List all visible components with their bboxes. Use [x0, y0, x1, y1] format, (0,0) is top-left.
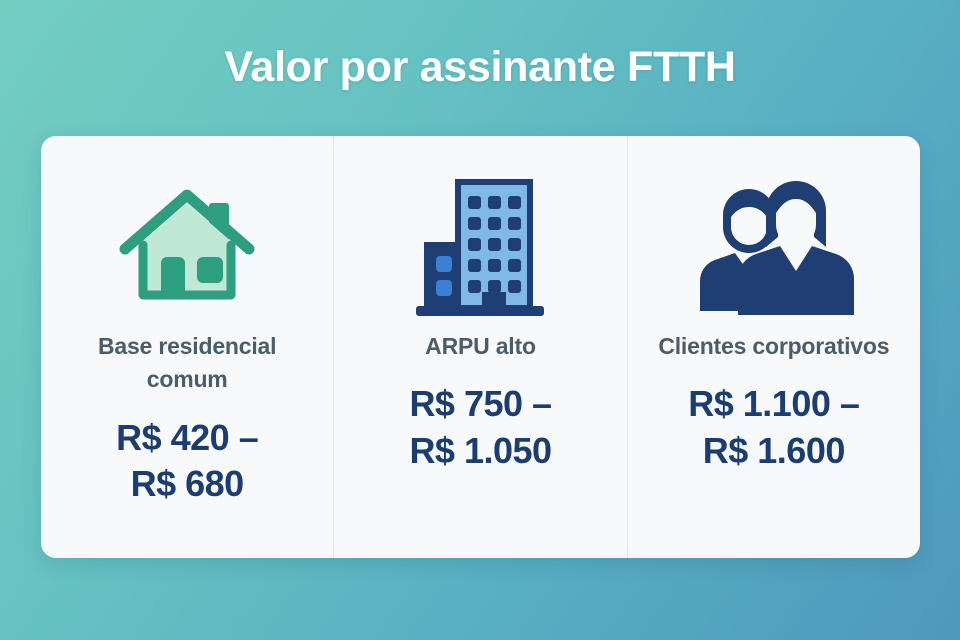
- segment-label: Clientes corporativos: [658, 330, 889, 363]
- segment-value: R$ 750 – R$ 1.050: [409, 381, 551, 475]
- value-card-panel: Base residencial comum R$ 420 – R$ 680: [41, 136, 920, 558]
- segment-label: ARPU alto: [425, 330, 536, 363]
- segment-arpu-alto: ARPU alto R$ 750 – R$ 1.050: [333, 136, 626, 558]
- infographic-root: Valor por assinante FTTH: [0, 0, 960, 640]
- segment-value: R$ 420 – R$ 680: [116, 415, 258, 509]
- segment-value: R$ 1.100 – R$ 1.600: [688, 381, 859, 475]
- segment-label: Base residencial comum: [67, 330, 307, 397]
- house-icon: [117, 172, 257, 322]
- segment-base-residencial: Base residencial comum R$ 420 – R$ 680: [41, 136, 333, 558]
- page-title: Valor por assinante FTTH: [0, 44, 960, 91]
- segment-clientes-corporativos: Clientes corporativos R$ 1.100 – R$ 1.60…: [627, 136, 920, 558]
- office-building-icon: [410, 172, 550, 322]
- business-people-icon: [690, 172, 858, 322]
